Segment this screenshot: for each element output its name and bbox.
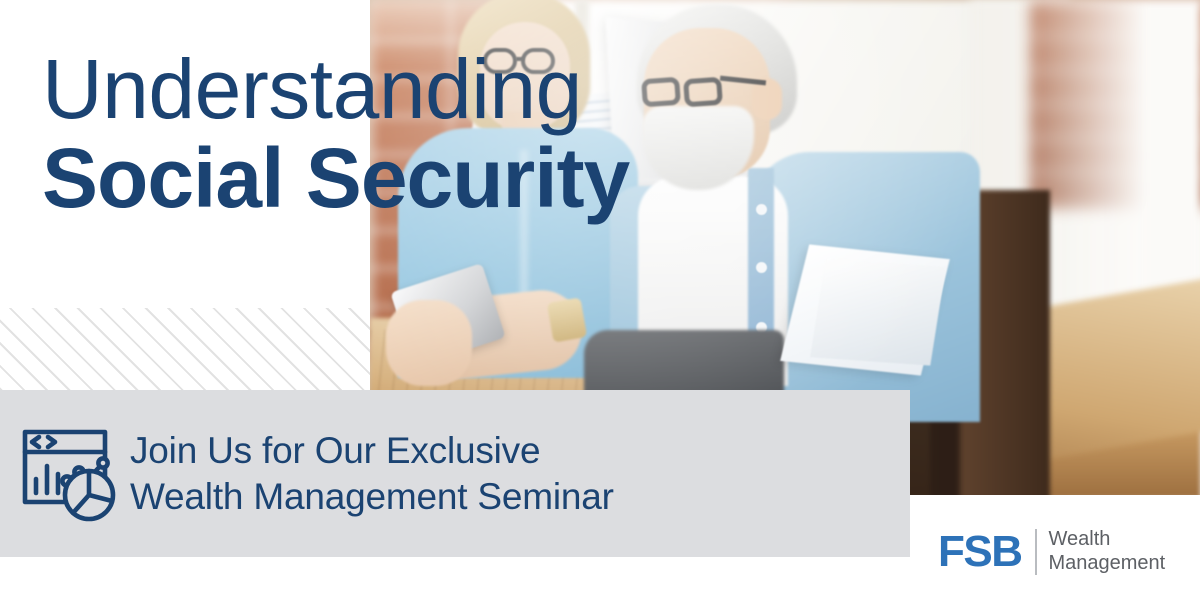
logo-word-wealth: Wealth: [1049, 528, 1166, 552]
man-shirt-button: [756, 204, 767, 215]
cta-line-1: Join Us for Our Exclusive: [130, 428, 614, 473]
cta-bar: Join Us for Our Exclusive Wealth Managem…: [0, 390, 910, 557]
woman-watch: [547, 297, 587, 342]
analytics-dashboard-icon: [0, 422, 130, 526]
fsb-wealth-management-logo: FSB Wealth Management: [938, 528, 1165, 575]
logo-divider: [1035, 529, 1037, 575]
headline-line-2: Social Security: [42, 137, 742, 220]
cta-line-2: Wealth Management Seminar: [130, 474, 614, 519]
cta-subtitle: Join Us for Our Exclusive Wealth Managem…: [130, 428, 614, 518]
headline-line-1: Understanding: [42, 48, 742, 131]
event-banner: Understanding Social Security: [0, 0, 1200, 600]
page-title: Understanding Social Security: [42, 48, 742, 220]
held-papers-second: [810, 258, 946, 365]
man-shirt-button: [756, 262, 767, 273]
analytics-dashboard-icon-svg: [17, 422, 121, 526]
logo-wordmark: Wealth Management: [1049, 528, 1166, 575]
diagonal-stripe-pattern: [0, 308, 370, 390]
logo-mark-fsb: FSB: [938, 530, 1022, 574]
woman-hand: [386, 300, 472, 386]
logo-word-management: Management: [1049, 552, 1166, 576]
